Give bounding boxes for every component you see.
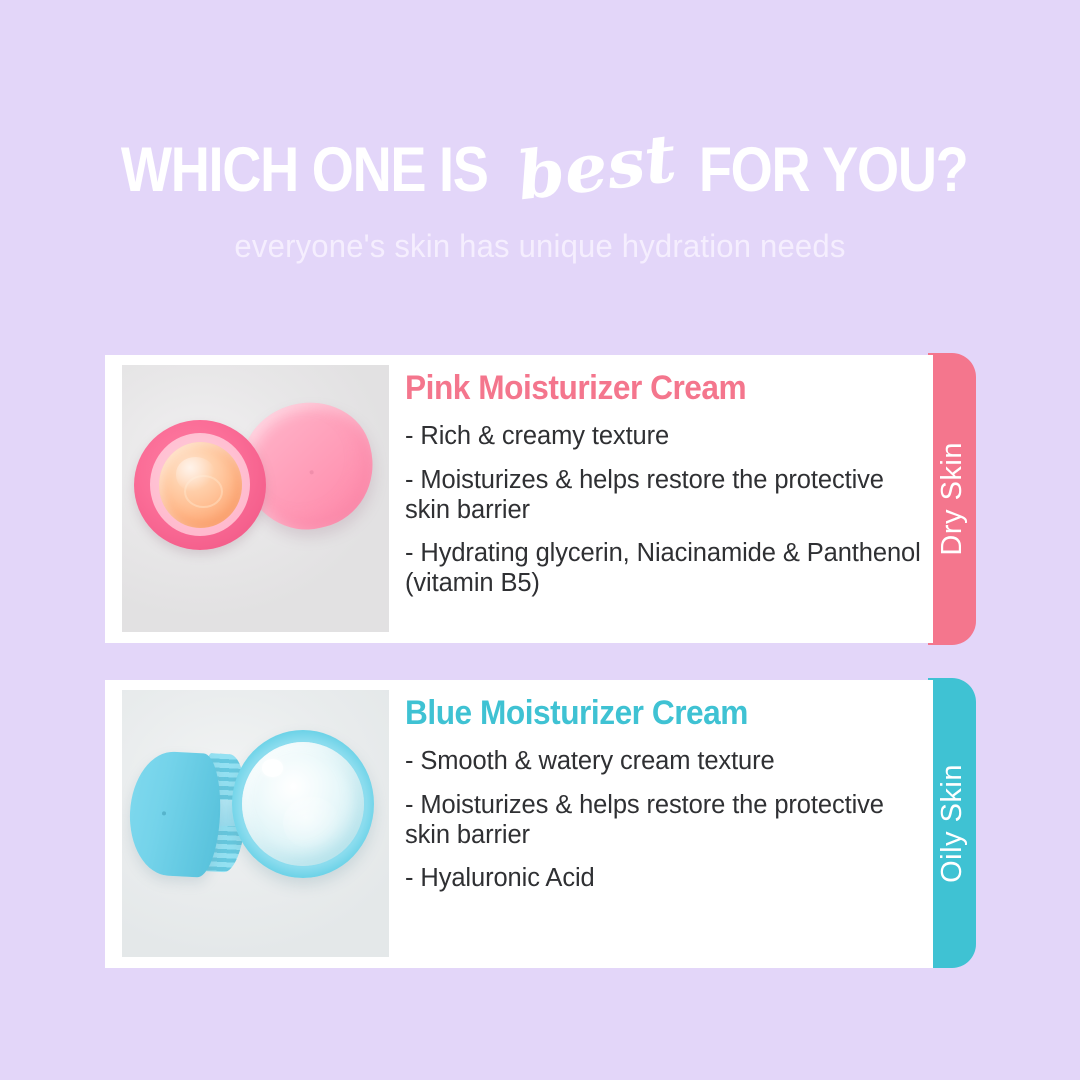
cream-surface-shape [159,442,242,528]
product-title-blue: Blue Moisturizer Cream [405,694,889,733]
title-part-one: WHICH ONE IS [121,139,488,202]
product-title-pink: Pink Moisturizer Cream [405,369,889,408]
product-details-pink: Pink Moisturizer Cream - Rich & creamy t… [405,369,925,599]
product-image-blue [122,690,389,957]
title-part-two: FOR YOU? [699,139,968,202]
product-feature-item: - Moisturizes & helps restore the protec… [405,466,925,526]
product-feature-item: - Hyaluronic Acid [405,864,925,894]
page-subtitle: everyone's skin has unique hydration nee… [16,228,1064,265]
jar-base-shape [134,420,266,550]
product-card-pink[interactable]: Dry Skin Pink Moisturizer Cream - Rich &… [105,353,976,645]
product-details-blue: Blue Moisturizer Cream - Smooth & watery… [405,694,925,894]
product-card-blue[interactable]: Oily Skin Blue Moisturizer Cream - Smoot… [105,678,976,968]
title-script-word: best [514,125,681,216]
product-feature-item: - Smooth & watery cream texture [405,747,925,777]
product-feature-item: - Rich & creamy texture [405,422,925,452]
skin-type-tab-label: Dry Skin [936,442,969,556]
skin-type-tab-label: Oily Skin [936,764,969,883]
product-feature-item: - Moisturizes & helps restore the protec… [405,791,925,851]
skin-type-tab-dry[interactable]: Dry Skin [928,353,976,645]
product-card-body: Pink Moisturizer Cream - Rich & creamy t… [105,355,933,643]
page-title: WHICH ONE IS best FOR YOU? [0,134,1080,206]
product-feature-item: - Hydrating glycerin, Niacinamide & Pant… [405,539,925,599]
product-image-pink [122,365,389,632]
jar-base-shape [232,730,374,878]
skin-type-tab-oily[interactable]: Oily Skin [928,678,976,968]
gel-surface-shape [242,742,364,866]
product-card-body: Blue Moisturizer Cream - Smooth & watery… [105,680,933,968]
